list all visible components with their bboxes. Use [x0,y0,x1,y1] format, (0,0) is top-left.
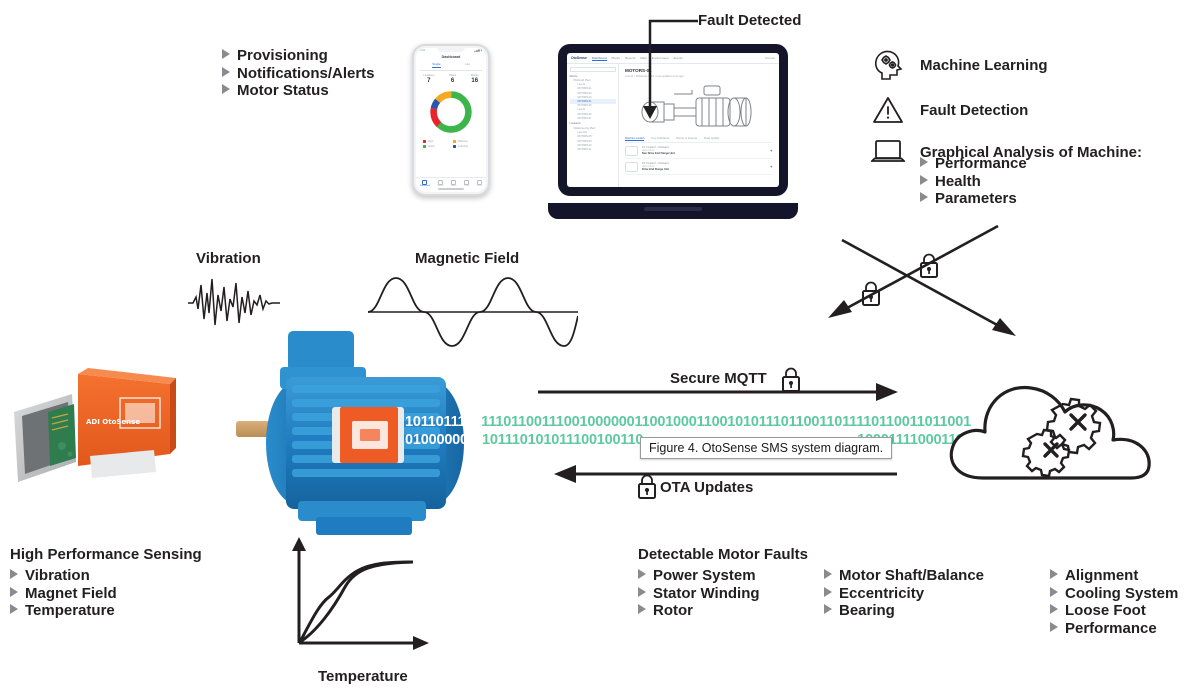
fault-label: Alignment [1065,567,1138,585]
status-indicators: ▂▄▆ ▮ [474,49,482,52]
stat-value: 16 [471,77,479,85]
bullet-triangle-icon [10,587,18,597]
bullet-triangle-icon [222,49,230,59]
stat-plants: Plants 6 [449,74,456,85]
bullet-triangle-icon [824,604,832,614]
temperature-response-chart [285,535,445,665]
list-item: Cooling System [1050,585,1178,603]
lock-icon-ota [634,473,660,501]
section-title: Detectable Motor Faults [638,546,1178,563]
fault-label: Power System [653,567,756,585]
sensing-label: Temperature [25,602,115,620]
bullet-triangle-icon [1050,604,1058,614]
app-logo: OtoSense [571,56,587,60]
bullet-triangle-icon [920,175,928,185]
sidebar-item-label: Line 01 [578,83,586,86]
bullet-triangle-icon [1050,622,1058,632]
list-item[interactable]: P1 Coupled - Outboard Alert Found Non Dr… [625,143,773,159]
fault-label: Performance [1065,620,1157,638]
fault-label: Motor Shaft/Balance [839,567,984,585]
phone-page-title: Dashboard [416,55,486,59]
fault-detection-warning-icon [868,95,908,125]
tab-data-quality[interactable]: Data Quality [704,136,719,141]
sensor-pcb [48,404,76,466]
fault-label: Rotor [653,602,693,620]
graphical-analysis-sublist: Performance Health Parameters [920,155,1027,208]
search-input[interactable] [570,67,616,72]
tab-reports[interactable]: Reports [625,56,636,61]
thumbnail [625,146,638,156]
list-item[interactable]: P2 Coupled - Outboard Alert Found Drive … [625,159,773,175]
list-item: Temperature [10,602,202,620]
sensing-label: Magnet Field [25,585,117,603]
phone-tabs: Single List [416,62,486,68]
sidebar-item-label: MOTORS-01 [578,87,592,90]
list-item: Performance [1050,620,1178,638]
tab-points-of-interest[interactable]: Points of Interest [676,136,697,141]
sidebar-item[interactable]: MOTORS-11 [570,147,616,151]
bullet-triangle-icon [222,84,230,94]
cloud-capabilities-list: Machine Learning Fault Detection Graphic… [868,48,1198,179]
temperature-label: Temperature [318,668,408,685]
status-time: 9:41 [420,49,425,52]
phone-bottom-nav: Dashboard Motors Alerts Plants More [416,177,486,187]
nav-plants[interactable]: Plants [464,180,470,187]
list-item: Health [920,173,1027,191]
bullet-triangle-icon [920,192,928,202]
faults-columns: Power System Stator Winding Rotor Motor … [638,567,1178,637]
cloud-to-client-arrows [820,222,1020,347]
status-badge: ✦ [770,164,773,169]
otosense-sensor-device: ADI OtoSense [4,358,179,498]
ota-updates-label: OTA Updates [660,479,753,496]
capability-label: Fault Detection [920,102,1028,119]
list-item: Eccentricity [824,585,1050,603]
sidebar-item-label: MOTORS-03 [578,96,592,99]
nav-dashboard[interactable]: Dashboard [420,180,430,187]
app-feature-label: Provisioning [237,47,328,65]
list-item: Alignment [1050,567,1178,585]
list-item: Motor Shaft/Balance [824,567,1050,585]
status-badge: ✦ [770,148,773,153]
fault-label: Eccentricity [839,585,924,603]
nav-label: More [477,185,482,187]
sidebar-group-label: Motors [570,75,616,78]
binary-green-segment: 101110101011100100110 [482,432,643,448]
sidebar-item-label: MOTORS-06 [578,113,592,116]
sensing-list: Vibration Magnet Field Temperature [10,567,202,620]
nav-label: Motors [437,185,443,187]
binary-dark-segment: 1011011100 [405,414,481,430]
legend-swatch-good [423,145,426,148]
laptop-base [548,203,798,219]
fault-label: Cooling System [1065,585,1178,603]
laptop-icon [868,138,908,166]
tab-machine-health[interactable]: Machine Health [625,136,644,141]
legend-swatch-learning [453,145,456,148]
capability-fault-detection: Fault Detection [868,95,1198,125]
account-menu[interactable]: Account [765,56,775,60]
content-tabs: Machine Health Key Indicators Points of … [625,136,773,144]
fault-label: Loose Foot [1065,602,1146,620]
sidebar-item-label: MOTORS-05 [578,104,592,107]
legend-item: Good [423,145,449,148]
legend-label: Learning [458,145,468,148]
nav-label: Dashboard [420,185,430,187]
sidebar-group-label: Locations [570,122,616,125]
capability-label: Machine Learning [920,57,1048,74]
capability-graphical-analysis: Graphical Analysis of Machine: [868,138,1198,166]
binary-green-segment: 1110110011100100000011001000110010101110… [481,414,971,430]
list-item: Provisioning [222,47,375,65]
list-item: Vibration [10,567,202,585]
phone-body: 9:41 ▂▄▆ ▮ Dashboard Single List Locatio… [412,44,490,196]
bullet-triangle-icon [1050,569,1058,579]
figure-caption: Figure 4. OtoSense SMS system diagram. [640,437,892,459]
nav-alerts[interactable]: Alerts [451,180,456,187]
app-feature-label: Notifications/Alerts [237,65,375,83]
list-item: Stator Winding [638,585,824,603]
item-meta: P2 Coupled - Outboard Alert Found Drive … [642,162,669,171]
bullet-triangle-icon [824,587,832,597]
sub-item-label: Performance [935,155,1027,173]
bullet-triangle-icon [10,604,18,614]
list-item: Magnet Field [10,585,202,603]
sidebar-item-label: MOTORS-11 [578,148,592,151]
phone-screen: 9:41 ▂▄▆ ▮ Dashboard Single List Locatio… [416,48,486,192]
cloud-icon [945,360,1175,490]
bullet-triangle-icon [638,569,646,579]
stat-motors: Motors 16 [471,74,479,85]
stat-locations: Locations 7 [423,74,434,85]
legend-label: Good [428,145,434,148]
sidebar-item-label: MOTORS-10 [578,144,592,147]
nav-more[interactable]: More [477,180,482,187]
faults-column-3: Alignment Cooling System Loose Foot Perf… [1050,567,1178,637]
phone-notch [437,46,465,52]
sidebar-item-label: Line 02 [578,108,586,111]
bullet-triangle-icon [824,569,832,579]
web-app-sidebar: Motors Pittsburgh Plant Line 01 MOTORS-0… [567,64,619,187]
vibration-label: Vibration [196,250,261,267]
fault-label: Stator Winding [653,585,760,603]
sidebar-item-label: MOTORS-09 [578,140,592,143]
sidebar-item-label: MOTORS-02 [578,92,592,95]
vibration-waveform-icon [188,275,280,330]
legend-swatch-warning [453,140,456,143]
list-item: Performance [920,155,1027,173]
faults-column-1: Power System Stator Winding Rotor [638,567,824,637]
binary-stream-row-1: 1011011100111011001110010000001100100011… [405,414,971,430]
legend-label: Warning [458,140,468,143]
nav-motors[interactable]: Motors [437,180,443,187]
sidebar-item-label: Oklahoma City Plant [574,127,596,130]
legend-item: Warning [453,140,479,143]
legend-swatch-alert [423,140,426,143]
sidebar-item-label: Line 001 [578,131,587,134]
bullet-triangle-icon [10,569,18,579]
bullet-triangle-icon [638,604,646,614]
sidebar-item[interactable]: MOTORS-07 [570,116,616,120]
arrow-uplink-to-cloud [538,380,898,404]
list-item: Motor Status [222,82,375,100]
list-item: Rotor [638,602,824,620]
nav-label: Alerts [451,185,456,187]
item-detail: Non Drive End Flange Unit [642,152,675,155]
section-title: High Performance Sensing [10,546,202,563]
legend-item: Learning [453,145,479,148]
fault-label: Bearing [839,602,895,620]
list-item: Bearing [824,602,1050,620]
nav-label: Plants [464,185,470,187]
sidebar-item-label: MOTORS-01 [578,100,592,103]
list-item: Notifications/Alerts [222,65,375,83]
legend-label: Alert [428,140,433,143]
sidebar-item-label: MOTORS-07 [578,117,592,120]
phone-legend: Alert Warning Good Learning [416,140,486,148]
capability-machine-learning: Machine Learning [868,48,1198,82]
stat-value: 7 [423,77,434,85]
app-feature-label: Motor Status [237,82,329,100]
item-detail: Drive End Flange Unit [642,168,669,171]
stat-value: 6 [449,77,456,85]
list-item: Loose Foot [1050,602,1178,620]
bullet-triangle-icon [222,67,230,77]
high-performance-sensing-block: High Performance Sensing Vibration Magne… [10,546,202,620]
thumbnail [625,162,638,172]
phone-stats: Locations 7 Plants 6 Motors 16 [416,74,486,85]
tab-single[interactable]: Single [432,62,440,68]
machine-learning-head-icon [868,48,908,82]
sub-item-label: Health [935,173,981,191]
fault-detected-pointer [640,14,710,119]
magnetic-field-label: Magnetic Field [415,250,519,267]
tab-plants[interactable]: Plants [612,56,620,61]
sensing-label: Vibration [25,567,90,585]
tab-key-indicators[interactable]: Key Indicators [651,136,669,141]
binary-dark-segment: 0100000011 [405,432,482,448]
list-item: Parameters [920,190,1027,208]
list-item: Power System [638,567,824,585]
lock-icon-upstream [916,252,942,280]
sidebar-item-label: MOTORS-08 [578,135,592,138]
legend-item: Alert [423,140,449,143]
sidebar-item-label: Pittsburgh Plant [574,79,591,82]
motor-status-donut-chart [428,89,474,135]
divider [420,70,482,71]
phone-donut-wrapper [416,89,486,135]
bullet-triangle-icon [638,587,646,597]
tab-dashboard[interactable]: Dashboard [592,56,607,61]
home-indicator [438,188,464,190]
terminal-box [288,331,354,371]
faults-column-2: Motor Shaft/Balance Eccentricity Bearing [824,567,1050,637]
bullet-triangle-icon [920,157,928,167]
lock-icon-downstream [858,280,884,308]
sub-item-label: Parameters [935,190,1017,208]
item-meta: P1 Coupled - Outboard Alert Found Non Dr… [642,146,675,155]
mobile-app-mockup: 9:41 ▂▄▆ ▮ Dashboard Single List Locatio… [412,44,490,196]
fault-detected-label: Fault Detected [698,12,801,29]
tab-list[interactable]: List [465,62,470,68]
detectable-motor-faults-block: Detectable Motor Faults Power System Sta… [638,546,1178,637]
app-features-list: Provisioning Notifications/Alerts Motor … [222,47,375,100]
bullet-triangle-icon [1050,587,1058,597]
